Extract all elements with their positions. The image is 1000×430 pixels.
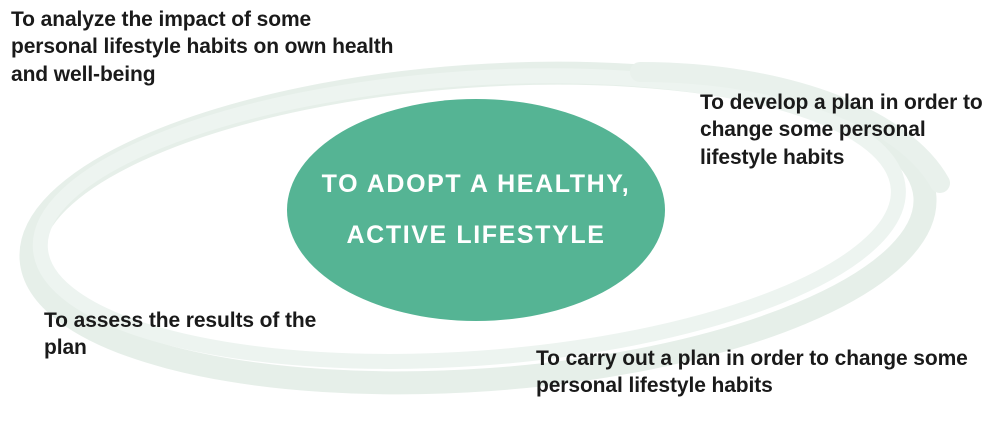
center-ellipse-node: TO ADOPT A HEALTHY, ACTIVE LIFESTYLE: [287, 99, 665, 321]
label-assess-results: To assess the results of the plan: [44, 307, 344, 362]
label-analyze-impact: To analyze the impact of some personal l…: [11, 6, 401, 88]
center-title-line-2: ACTIVE LIFESTYLE: [347, 221, 606, 250]
cycle-diagram: TO ADOPT A HEALTHY, ACTIVE LIFESTYLE To …: [0, 0, 1000, 430]
label-carry-out-plan: To carry out a plan in order to change s…: [536, 345, 996, 400]
label-develop-plan: To develop a plan in order to change som…: [700, 89, 1000, 171]
center-title-line-1: TO ADOPT A HEALTHY,: [322, 170, 631, 199]
